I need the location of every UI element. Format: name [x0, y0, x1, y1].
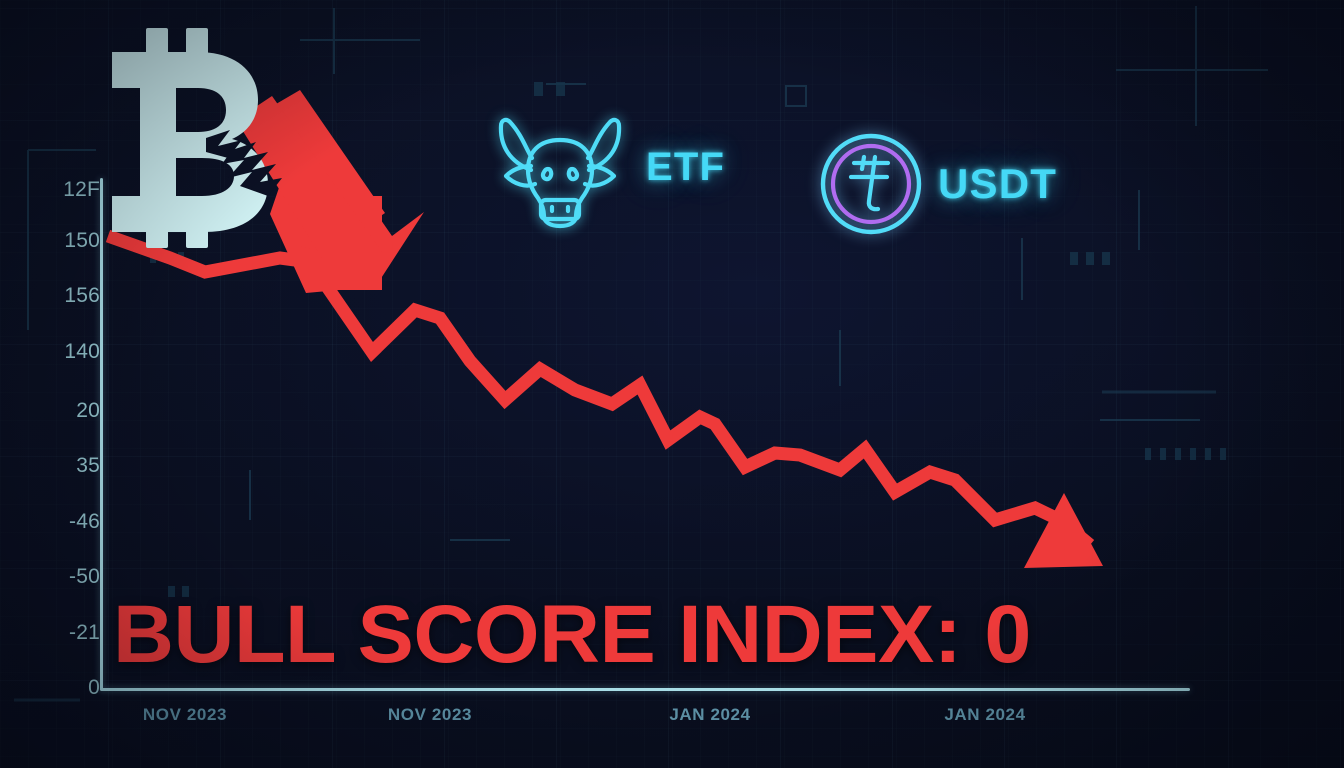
- badge-usdt-label: USDT: [938, 160, 1057, 208]
- chart-canvas: 12F 150 156 140 20 35 -46 -50 -21 0 NOV …: [0, 0, 1344, 768]
- badge-etf: ETF: [488, 104, 725, 230]
- bull-head-icon: [488, 104, 632, 230]
- usdt-coin-icon: [818, 131, 924, 237]
- badge-usdt: USDT: [818, 131, 1057, 237]
- bitcoin-icon: [112, 28, 268, 248]
- page-title: BULL SCORE INDEX: 0: [113, 592, 1031, 678]
- badge-etf-label: ETF: [646, 145, 725, 190]
